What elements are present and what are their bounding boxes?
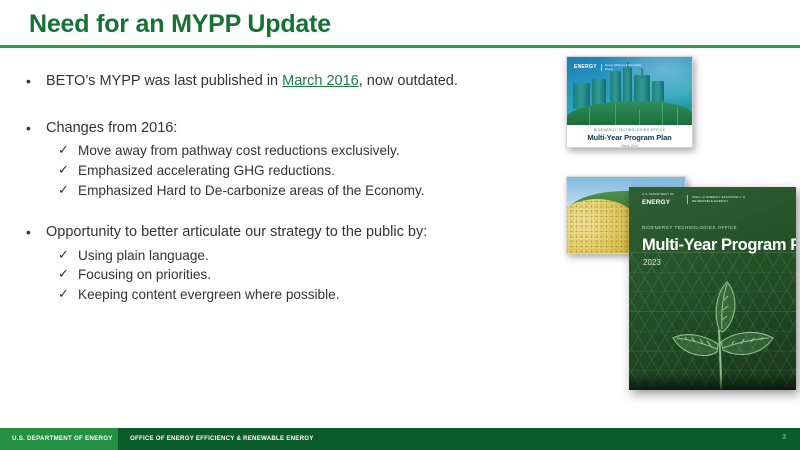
cover-office-label: BIOENERGY TECHNOLOGIES OFFICE [642,225,737,230]
list-item-text: Move away from pathway cost reductions e… [78,143,400,158]
check-icon: ✓ [58,181,69,198]
cover-title-band: BIOENERGY TECHNOLOGIES OFFICE Multi-Year… [567,125,692,146]
bullet-marker-icon: • [26,119,31,138]
soil-ground [629,374,796,390]
spacer [20,202,540,223]
seedling-illustration [655,272,787,390]
cover-image-mypp-2016: ENERGY Energy Efficiency & Renewable Ene… [566,56,693,148]
cover-image-mypp-2023: U.S. DEPARTMENT OF ENERGY Office of ENER… [629,187,796,390]
check-icon: ✓ [58,161,69,178]
list-item: ✓ Move away from pathway cost reductions… [20,142,540,160]
cover-title: Multi-Year Program Plan [567,133,692,142]
doe-logo-subtitle: Energy Efficiency & Renewable Energy [601,64,649,71]
title-divider [0,45,800,48]
slide: Need for an MYPP Update • BETO’s MYPP wa… [0,0,800,450]
list-item-text: Emphasized Hard to De-carbonize areas of… [78,183,425,198]
doe-logo-top: U.S. DEPARTMENT OF [642,193,674,196]
check-icon: ✓ [58,141,69,158]
doe-logo-subtitle: Office of ENERGY EFFICIENCY & RENEWABLE … [687,195,754,204]
list-item-text-after: , now outdated. [359,73,458,89]
list-item: • Opportunity to better articulate our s… [20,223,540,243]
biorefinery-photo: ENERGY Energy Efficiency & Renewable Ene… [567,57,692,125]
check-icon: ✓ [58,285,69,302]
list-item: • BETO’s MYPP was last published in Marc… [20,72,540,92]
list-item: ✓ Focusing on priorities. [20,266,540,284]
list-item-text: Focusing on priorities. [78,267,211,282]
bullet-marker-icon: • [26,72,31,91]
check-icon: ✓ [58,246,69,263]
footer-department-label: U.S. DEPARTMENT OF ENERGY [12,435,113,442]
page-title: Need for an MYPP Update [29,10,331,39]
list-item-text: Keeping content evergreen where possible… [78,287,339,302]
march-2016-link[interactable]: March 2016 [282,73,359,89]
cover-title: Multi-Year Program Plan [642,236,796,255]
slide-footer: U.S. DEPARTMENT OF ENERGY OFFICE OF ENER… [0,428,800,450]
doe-energy-logo: ENERGY [642,199,670,206]
cover-images-group: ENERGY Energy Efficiency & Renewable Ene… [545,52,800,397]
list-item: • Changes from 2016: [20,119,540,139]
cover-office-label: BIOENERGY TECHNOLOGIES OFFICE [567,128,692,132]
list-item-text: Emphasized accelerating GHG reductions. [78,163,335,178]
list-item: ✓ Emphasized Hard to De-carbonize areas … [20,182,540,200]
list-item-text: Using plain language. [78,248,209,263]
spacer [20,96,540,119]
doe-energy-logo: ENERGY [574,64,597,70]
list-item: ✓ Using plain language. [20,247,540,265]
list-item-text: Opportunity to better articulate our str… [46,224,427,240]
footer-office-label: OFFICE OF ENERGY EFFICIENCY & RENEWABLE … [130,435,314,442]
page-number: 3 [782,434,786,441]
check-icon: ✓ [58,265,69,282]
list-item: ✓ Keeping content evergreen where possib… [20,286,540,304]
list-item-text: Changes from 2016: [46,120,177,136]
bullet-marker-icon: • [26,223,31,242]
cover-year: 2023 [643,258,661,267]
list-item-text-before: BETO’s MYPP was last published in [46,73,282,89]
list-item: ✓ Emphasized accelerating GHG reductions… [20,162,540,180]
cover-date: March 2016 [567,144,692,148]
bullet-list: • BETO’s MYPP was last published in Marc… [20,72,540,306]
